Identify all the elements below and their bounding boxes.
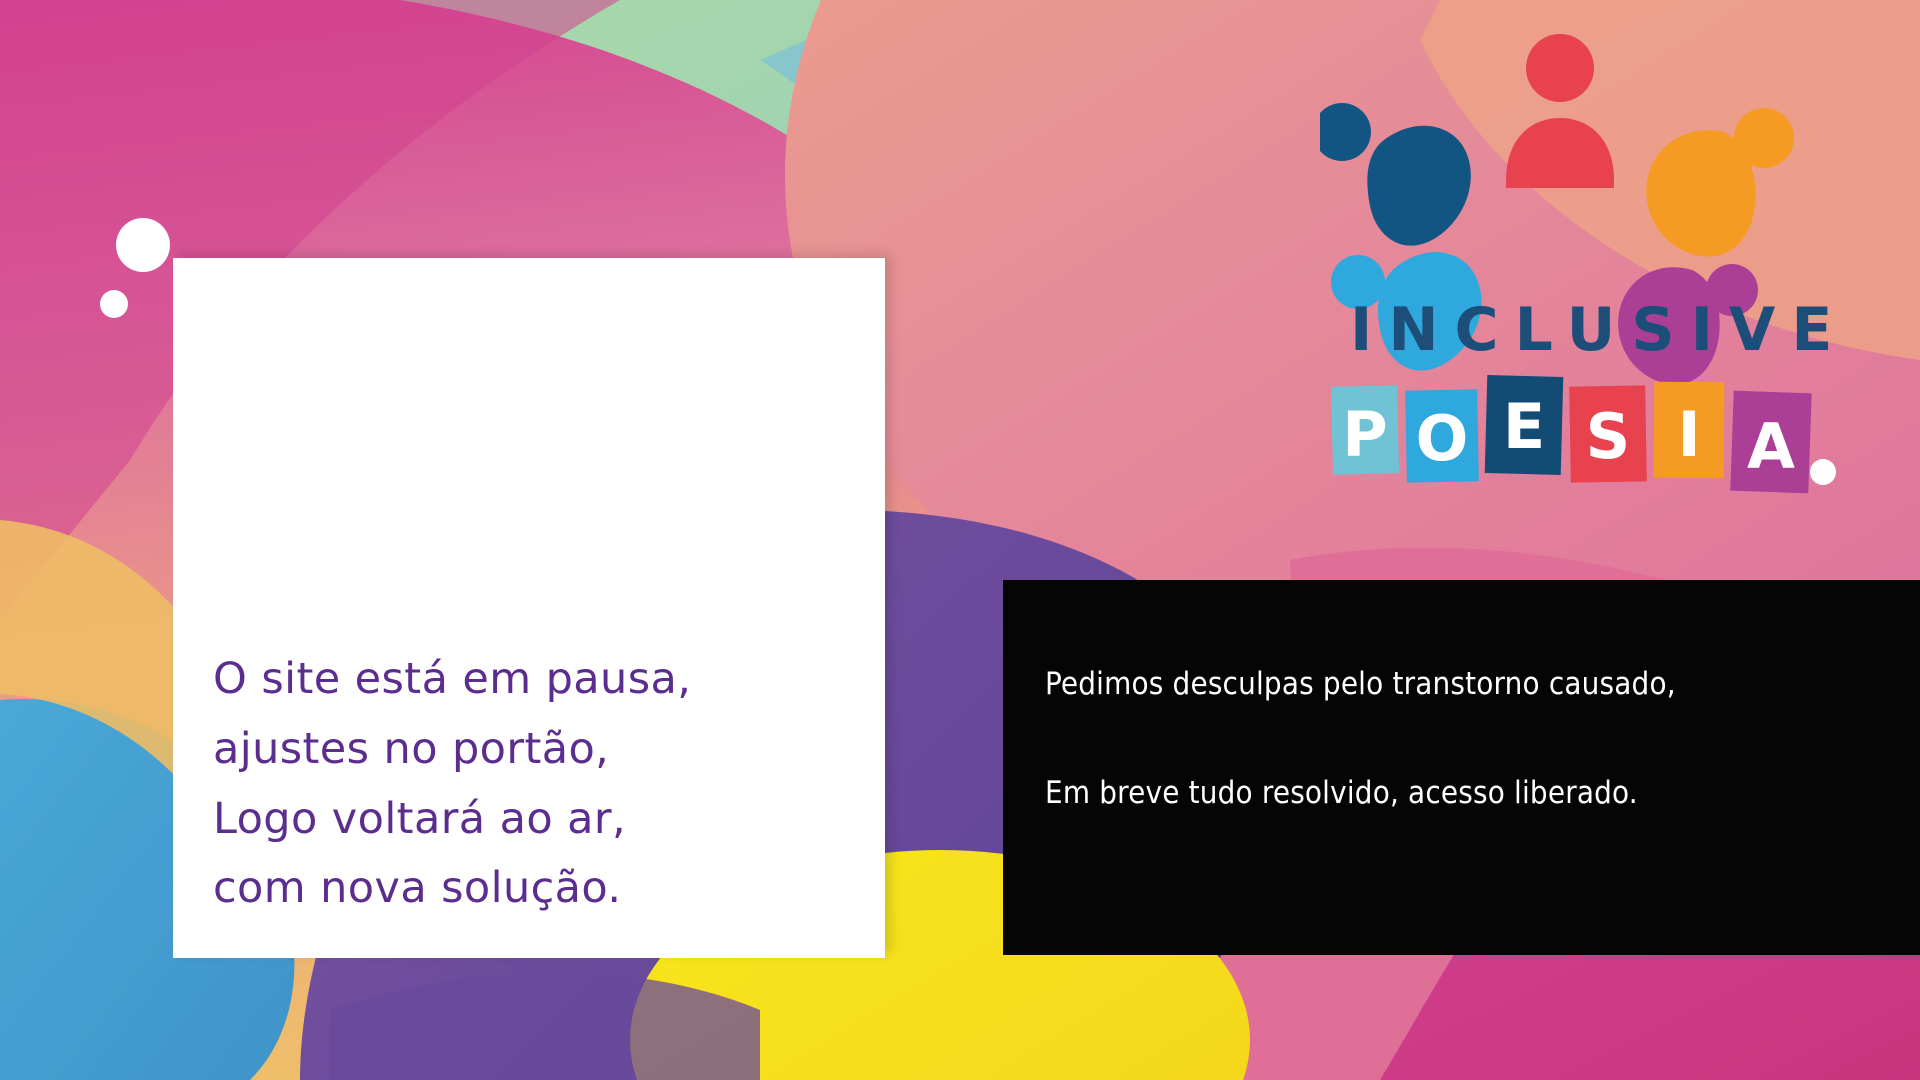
poesia-tile-s: S (1569, 385, 1647, 482)
poem-line-3: Logo voltará ao ar, (213, 785, 885, 855)
svg-text:O: O (1416, 402, 1469, 475)
poem-line-1: O site está em pausa, (213, 645, 885, 715)
poesia-tile-e: E (1485, 375, 1564, 475)
svg-text:A: A (1747, 410, 1795, 483)
poesia-tile-p: P (1331, 385, 1399, 475)
person-orange-icon (1646, 108, 1794, 257)
poem-card: O site está em pausa, ajustes no portão,… (173, 258, 885, 958)
apology-line-2: Em breve tudo resolvido, acesso liberado… (1045, 775, 1920, 811)
svg-text:S: S (1586, 400, 1631, 473)
svg-text:P: P (1342, 398, 1387, 471)
poem-line-4: com nova solução. (213, 854, 885, 924)
poem-line-2: ajustes no portão, (213, 715, 885, 785)
person-navy-icon (1320, 103, 1471, 246)
inclusive-poesia-logo: INCLUSIVE P O E (1320, 20, 1920, 540)
poesia-tile-i: I (1654, 382, 1725, 479)
person-red-icon (1506, 34, 1614, 188)
poster-canvas: O site está em pausa, ajustes no portão,… (0, 0, 1920, 1080)
apology-line-1: Pedimos desculpas pelo transtorno causad… (1045, 666, 1920, 702)
logo-wordmark-poesia: P O E S (1331, 375, 1836, 493)
poesia-tile-a: A (1730, 391, 1811, 494)
white-dot-large (116, 218, 170, 272)
white-dot-small (100, 290, 128, 318)
poem-text-block: O site está em pausa, ajustes no portão,… (213, 645, 885, 924)
logo-wordmark-inclusive: INCLUSIVE (1350, 295, 1848, 365)
apology-notice-box: Pedimos desculpas pelo transtorno causad… (1003, 580, 1920, 955)
svg-text:E: E (1503, 390, 1545, 463)
svg-text:I: I (1677, 398, 1700, 471)
poesia-dot-icon (1810, 459, 1836, 485)
poesia-tile-o: O (1405, 389, 1479, 482)
